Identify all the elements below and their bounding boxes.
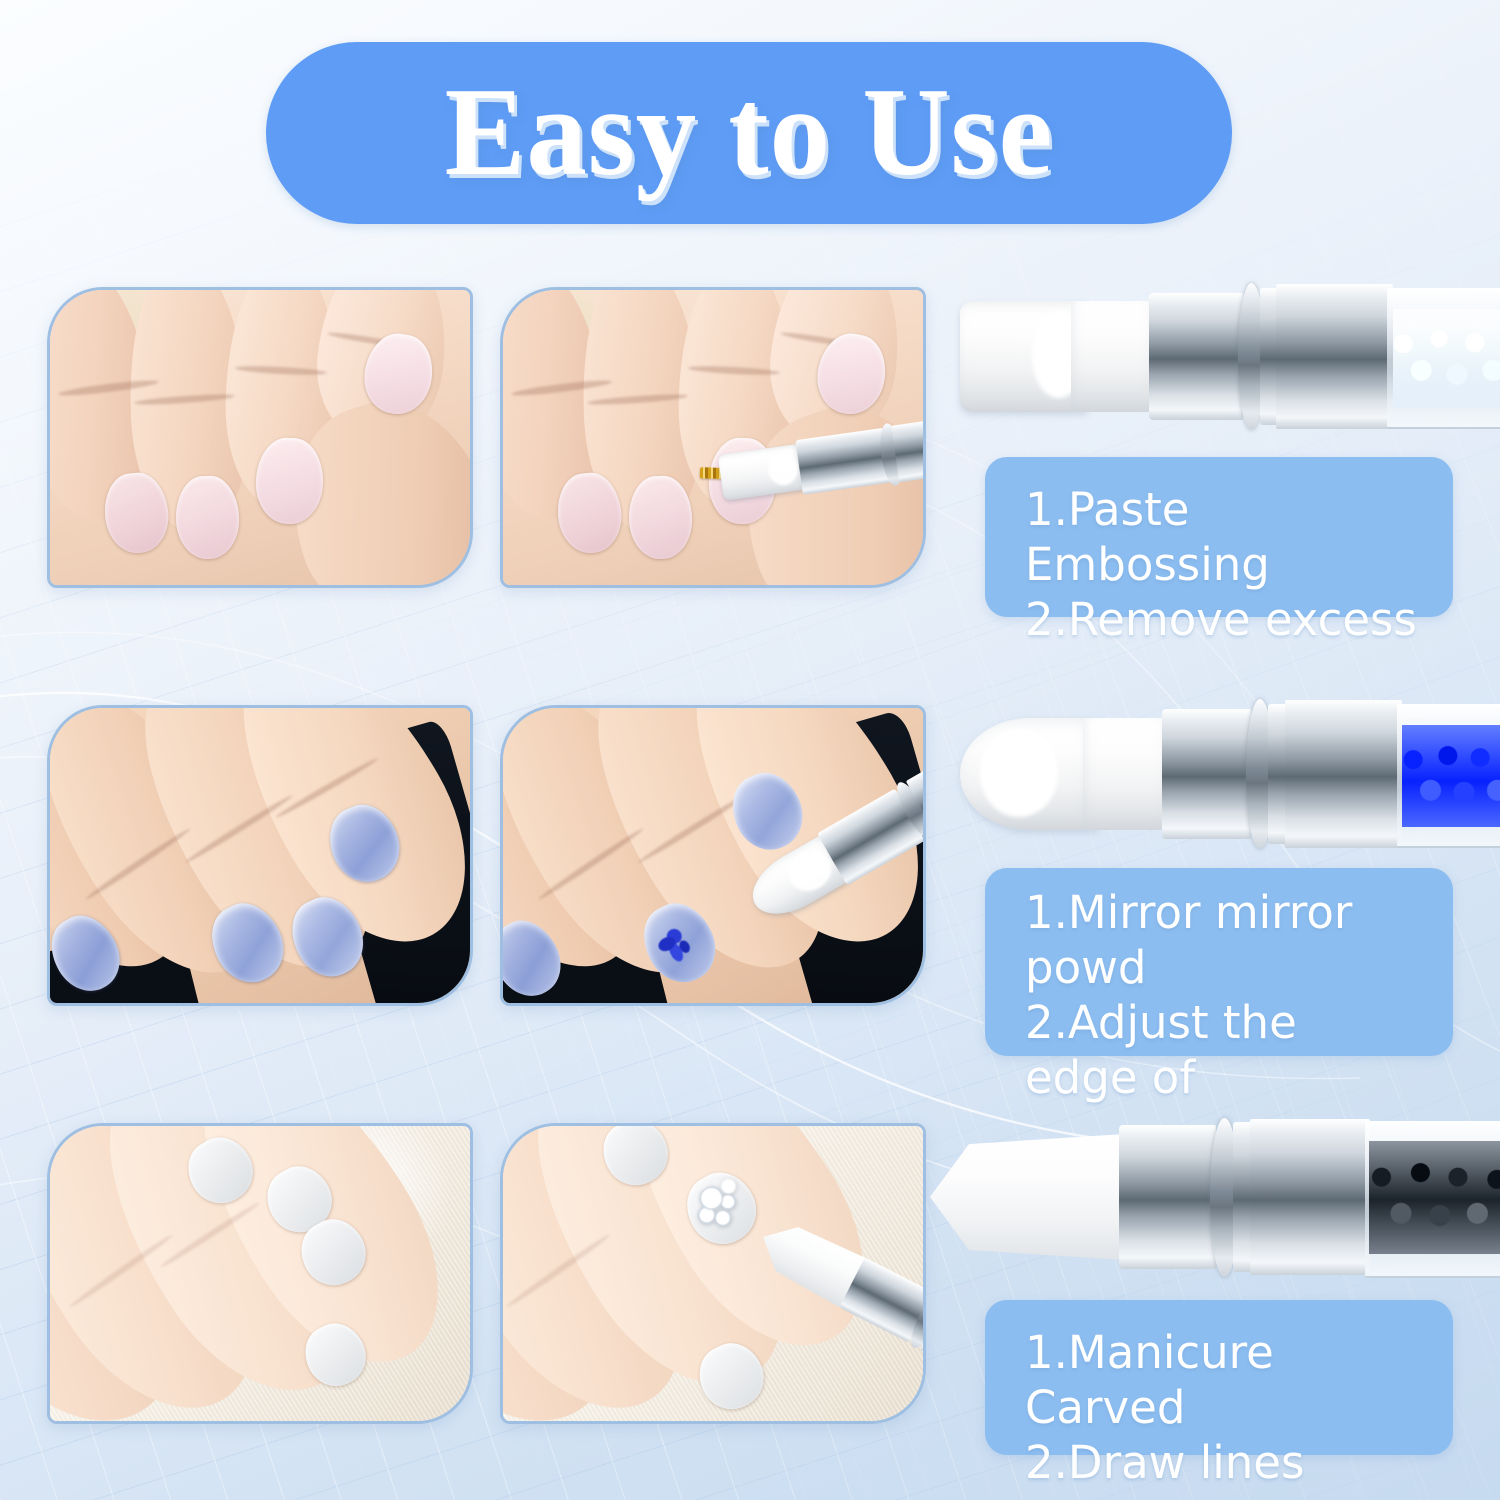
step-1-caption: 1.Paste Embossing 2.Remove excess (985, 457, 1453, 617)
step-1-product-pen (960, 284, 1500, 429)
page-title-banner: Easy to Use (266, 42, 1232, 224)
pen-flat-chisel-tip (960, 301, 1088, 411)
pen-pointed-cone-tip (930, 1134, 1124, 1260)
step-3-caption: 1.Manicure Carved 2.Draw lines (985, 1300, 1453, 1455)
pen-collar (1276, 284, 1393, 429)
product-infographic: Easy to Use (0, 0, 1500, 1500)
step-3-caption-line-2: 2.Draw lines (1025, 1436, 1423, 1491)
pen-tip-shaft (1083, 718, 1167, 830)
step-1-after-scene (503, 290, 923, 585)
step-3-after-photo (500, 1123, 926, 1424)
pen-acrylic-barrel (1365, 1121, 1500, 1278)
step-2-caption-line-2: 2.Adjust the edge of (1025, 996, 1423, 1106)
pen-collar (1250, 1119, 1370, 1275)
step-3-before-photo (47, 1123, 473, 1424)
step-2-before-scene (50, 708, 470, 1003)
step-1-caption-line-1: 1.Paste Embossing (1025, 483, 1423, 593)
pen-acrylic-barrel (1397, 704, 1500, 847)
step-2-after-photo (500, 705, 926, 1006)
pen-acrylic-barrel (1387, 288, 1500, 428)
pen-collar (1285, 700, 1403, 848)
clear-crystal-chips (1393, 309, 1500, 407)
step-3-before-scene (50, 1126, 470, 1421)
step-2-product-pen (960, 700, 1500, 848)
step-2-caption: 1.Mirror mirror powd 2.Adjust the edge o… (985, 868, 1453, 1056)
step-2-after-scene (503, 708, 923, 1003)
page-title: Easy to Use (445, 70, 1054, 196)
step-1-before-photo (47, 287, 473, 588)
step-1-after-photo (500, 287, 926, 588)
pen-ferrule (796, 428, 891, 494)
pen-round-dome-tip (960, 718, 1100, 830)
rhinestone-flower (685, 1174, 752, 1238)
step-2-caption-line-1: 1.Mirror mirror powd (1025, 886, 1423, 996)
pen-flat-tip (718, 444, 806, 500)
black-crystal-chips (1369, 1141, 1500, 1254)
pen-ferrule (1149, 293, 1243, 421)
pen-tip-shaft (1071, 301, 1154, 411)
step-1-before-scene (50, 290, 470, 585)
step-2-before-photo (47, 705, 473, 1006)
blue-flower-art (650, 919, 701, 973)
step-3-product-pen (930, 1122, 1500, 1272)
blue-crystal-chips (1402, 725, 1500, 828)
step-1-caption-line-2: 2.Remove excess (1025, 593, 1423, 648)
step-3-caption-line-1: 1.Manicure Carved (1025, 1326, 1423, 1436)
pen-ferrule (1162, 709, 1252, 839)
step-3-after-scene (503, 1126, 923, 1421)
pen-ferrule (1119, 1125, 1216, 1269)
